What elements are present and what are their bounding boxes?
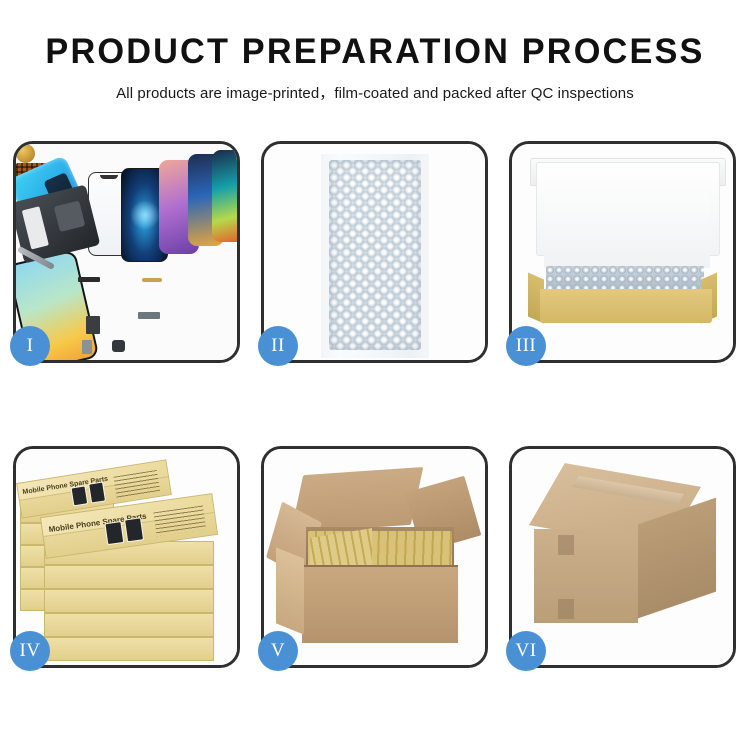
steps-grid: I II III: [13, 141, 737, 668]
stacked-box: [44, 589, 214, 613]
carton-filling-scene: [264, 449, 485, 665]
stacked-box: [44, 613, 214, 637]
sealed-carton-scene: [512, 449, 733, 665]
step-badge-5: V: [258, 631, 298, 671]
step-badge-2: II: [258, 326, 298, 366]
box-stack: Mobile Phone Spare Parts Mobile Phone Sp…: [16, 449, 237, 665]
step-panel-3: III: [509, 141, 736, 363]
page-subtitle: All products are image-printed，film-coat…: [0, 82, 750, 103]
phone-parts-scene: [16, 144, 237, 360]
stacked-box: [44, 637, 214, 661]
step-panel-4: Mobile Phone Spare Parts Mobile Phone Sp…: [13, 446, 240, 668]
header: PRODUCT PREPARATION PROCESS All products…: [0, 0, 750, 103]
camera-flex-part-icon: [138, 312, 160, 319]
flex-cable-part-icon: [142, 278, 162, 282]
box-screen-print: [88, 482, 106, 504]
product-preparation-infographic: PRODUCT PREPARATION PROCESS All products…: [0, 0, 750, 750]
step-panel-5: V: [261, 446, 488, 668]
carton-front-wall: [302, 567, 458, 643]
step-badge-6: VI: [506, 631, 546, 671]
box-screen-print: [124, 517, 144, 542]
stacked-box: [44, 565, 214, 589]
page-title: PRODUCT PREPARATION PROCESS: [8, 34, 743, 69]
carton-side-wall: [276, 547, 304, 634]
step-badge-1: I: [10, 326, 50, 366]
inner-box-scene: [512, 144, 733, 360]
step-panel-1: I: [13, 141, 240, 363]
connector-part-icon: [78, 277, 100, 282]
small-module-part-icon: [86, 316, 100, 334]
copper-coil-part-icon: [16, 144, 35, 163]
box-screen-print: [104, 521, 124, 545]
step-badge-3: III: [506, 326, 546, 366]
speaker-part-icon: [112, 340, 125, 352]
inner-box-front-wall: [540, 289, 712, 323]
phone-display-teal-icon: [212, 150, 237, 242]
sealed-carton-front: [534, 529, 638, 623]
bubble-wrap-bubbles-icon: [329, 160, 421, 350]
step-panel-6: VI: [509, 446, 736, 668]
bubble-wrap-scene: [264, 144, 485, 360]
stacked-boxes-scene: Mobile Phone Spare Parts Mobile Phone Sp…: [16, 449, 237, 665]
sim-tray-part-icon: [82, 340, 92, 354]
step-panel-2: II: [261, 141, 488, 363]
step-badge-4: IV: [10, 631, 50, 671]
box-screen-print: [71, 485, 89, 506]
carton-hand-hole-upper: [558, 535, 574, 555]
carton-hand-hole-lower: [558, 599, 574, 619]
inner-box-interior: [544, 196, 710, 268]
